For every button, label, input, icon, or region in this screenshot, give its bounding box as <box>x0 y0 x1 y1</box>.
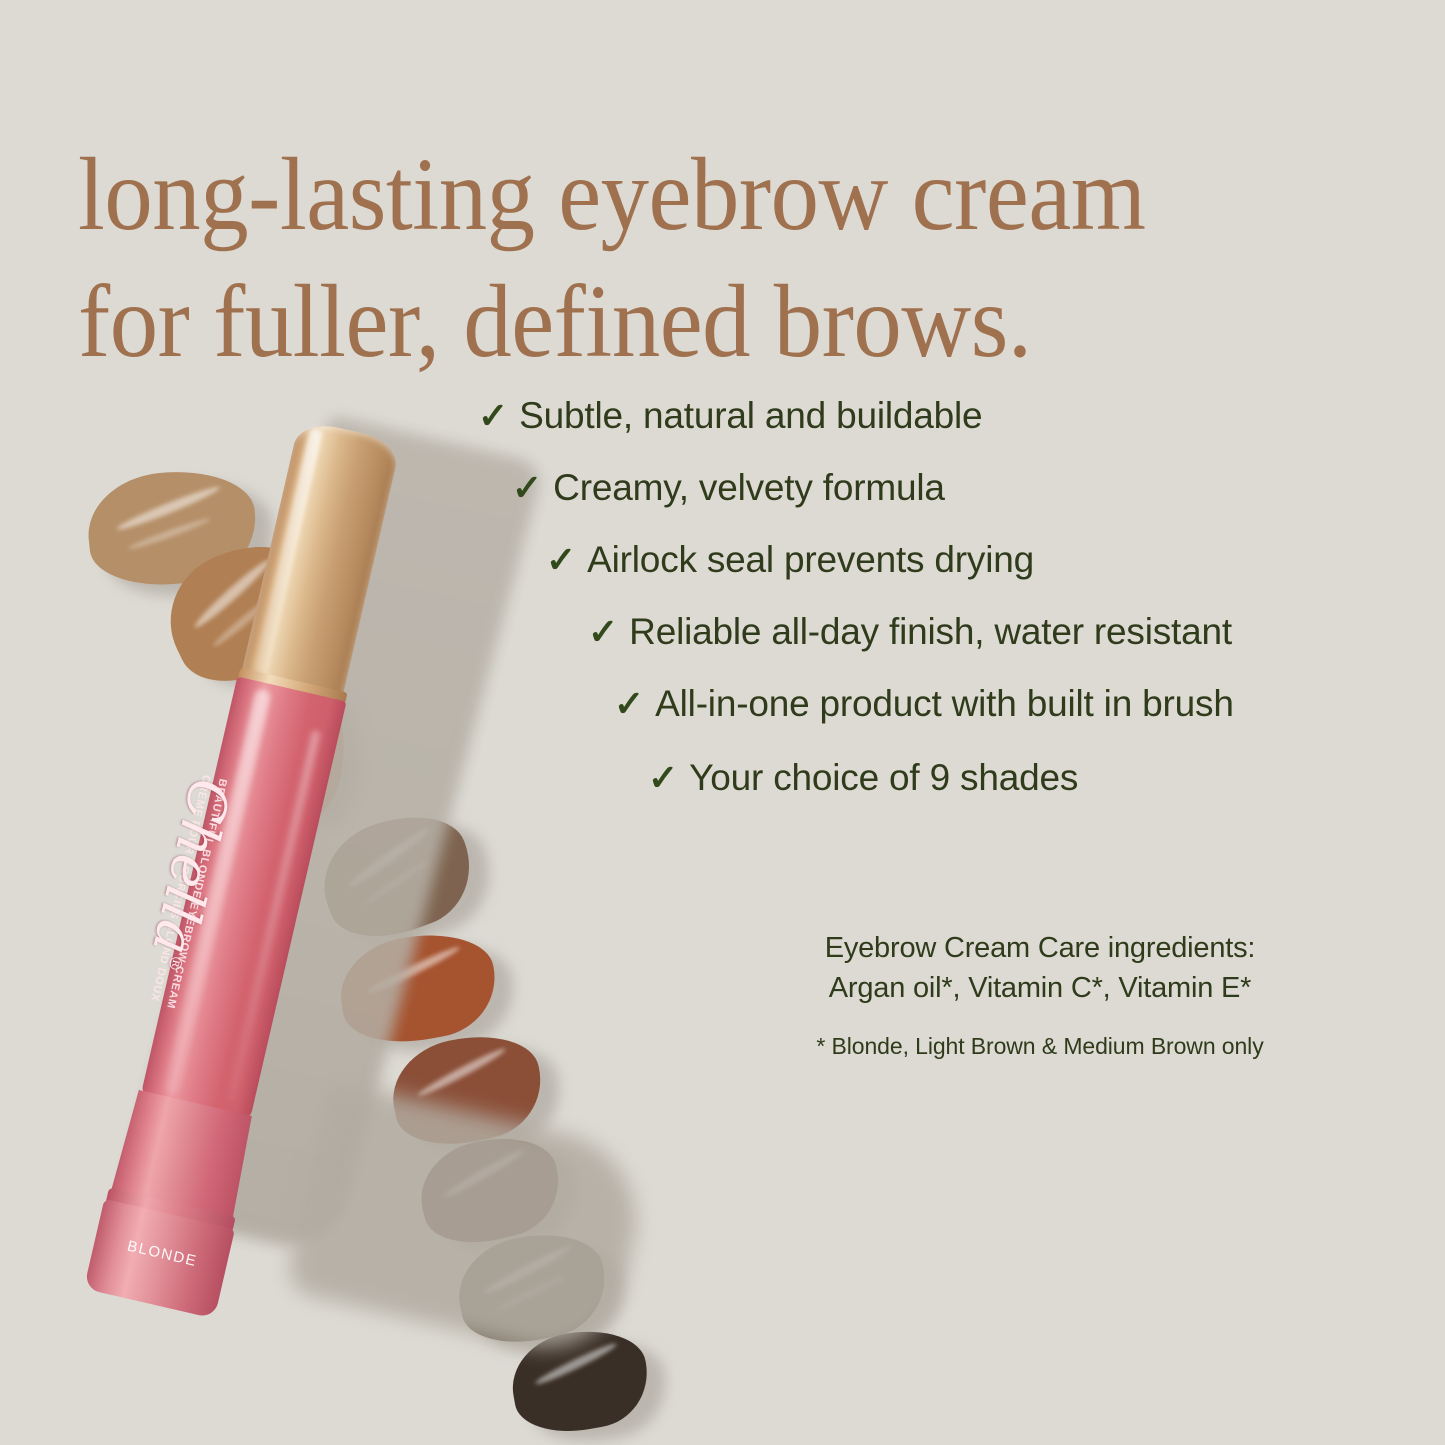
feature-item-1: ✓ Creamy, velvety formula <box>512 468 945 509</box>
headline-line-1: long-lasting eyebrow cream <box>78 132 1315 259</box>
feature-label: Creamy, velvety formula <box>553 468 945 509</box>
ingredients-footnote: * Blonde, Light Brown & Medium Brown onl… <box>742 1032 1338 1062</box>
feature-item-0: ✓ Subtle, natural and buildable <box>478 396 982 437</box>
checkmark-icon: ✓ <box>648 760 678 796</box>
feature-label: Your choice of 9 shades <box>689 758 1078 799</box>
feature-item-5: ✓ Your choice of 9 shades <box>648 758 1078 799</box>
ingredients-block: Eyebrow Cream Care ingredients: Argan oi… <box>742 928 1338 1062</box>
product-infographic: long-lasting eyebrow cream for fuller, d… <box>0 0 1445 1445</box>
checkmark-icon: ✓ <box>546 542 576 578</box>
checkmark-icon: ✓ <box>512 470 542 506</box>
checkmark-icon: ✓ <box>478 398 508 434</box>
headline-line-2: for fuller, defined brows. <box>78 259 1315 386</box>
feature-item-3: ✓ Reliable all-day finish, water resista… <box>588 612 1232 653</box>
feature-list: ✓ Subtle, natural and buildable ✓ Creamy… <box>0 396 1445 826</box>
checkmark-icon: ✓ <box>614 686 644 722</box>
ingredients-heading: Eyebrow Cream Care ingredients: <box>742 928 1338 968</box>
checkmark-icon: ✓ <box>588 614 618 650</box>
feature-item-2: ✓ Airlock seal prevents drying <box>546 540 1034 581</box>
ingredients-list: Argan oil*, Vitamin C*, Vitamin E* <box>742 968 1338 1008</box>
feature-label: Subtle, natural and buildable <box>519 396 982 437</box>
page-title: long-lasting eyebrow cream for fuller, d… <box>78 132 1315 386</box>
feature-label: Airlock seal prevents drying <box>587 540 1034 581</box>
feature-label: All-in-one product with built in brush <box>655 684 1234 725</box>
feature-label: Reliable all-day finish, water resistant <box>629 612 1232 653</box>
feature-item-4: ✓ All-in-one product with built in brush <box>614 684 1234 725</box>
